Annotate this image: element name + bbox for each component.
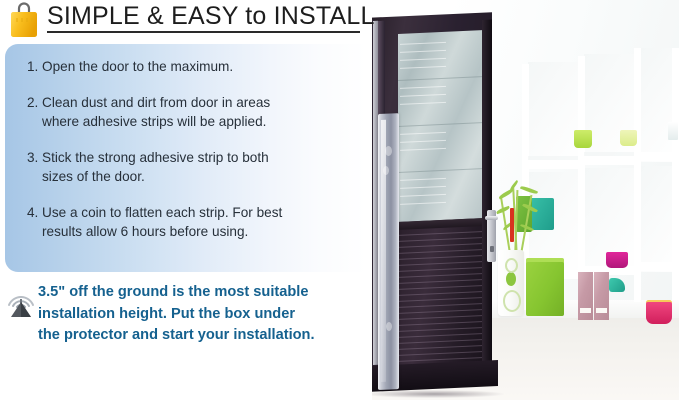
red-decor-stick <box>510 208 514 242</box>
instructions-column: SIMPLE & EASY to INSTALL 1.Open the door… <box>0 0 372 400</box>
magenta-pot <box>606 252 628 268</box>
title-underline <box>47 31 360 33</box>
door-assembly <box>354 18 500 380</box>
step-line-1: Stick the strong adhesive strip to both <box>42 150 269 165</box>
product-photo <box>330 0 679 400</box>
callout-note: 3.5" off the ground is the most suitable… <box>0 283 372 353</box>
white-vase <box>498 250 524 316</box>
callout-line-2: installation height. Put the box under <box>38 304 368 326</box>
step-number: 1. <box>27 57 42 76</box>
step-item: 3.Stick the strong adhesive strip to bot… <box>27 148 269 186</box>
step-item: 2.Clean dust and dirt from door in areas… <box>27 93 270 131</box>
glass-tumbler <box>668 122 678 140</box>
step-line-2: results allow 6 hours before using. <box>42 222 282 241</box>
step-number: 3. <box>27 148 42 167</box>
magazine-file-label <box>580 308 591 313</box>
door-glass-panel <box>398 30 482 222</box>
green-cup-reflection <box>620 130 637 146</box>
callout-line-3: the protector and start your installatio… <box>38 325 368 347</box>
step-number: 4. <box>27 203 42 222</box>
door-handle <box>485 216 498 220</box>
door-keyhole <box>490 246 494 252</box>
product-instruction-graphic: SIMPLE & EASY to INSTALL 1.Open the door… <box>0 0 679 400</box>
pink-pot <box>646 302 672 324</box>
step-item: 1.Open the door to the maximum. <box>27 57 233 76</box>
step-line-1: Open the door to the maximum. <box>42 59 233 74</box>
magazine-file <box>594 272 609 320</box>
door-edge <box>482 20 492 376</box>
shopping-bag-icon <box>8 2 40 38</box>
callout-text: 3.5" off the ground is the most suitable… <box>38 282 368 347</box>
door-louver-panel <box>396 226 484 378</box>
step-item: 4.Use a coin to flatten each strip. For … <box>27 203 282 241</box>
signal-tower-icon <box>5 285 37 319</box>
magazine-file-label <box>596 308 607 313</box>
step-line-1: Clean dust and dirt from door in areas <box>42 95 270 110</box>
protector-highlight <box>381 120 386 382</box>
green-cup <box>574 130 592 148</box>
magazine-file <box>578 272 593 320</box>
step-number: 2. <box>27 93 42 112</box>
steps-panel: 1.Open the door to the maximum. 2.Clean … <box>5 44 366 272</box>
header: SIMPLE & EASY to INSTALL <box>0 0 372 42</box>
step-line-2: where adhesive strips will be applied. <box>42 112 270 131</box>
step-line-1: Use a coin to flatten each strip. For be… <box>42 205 282 220</box>
door-floor-shadow <box>364 390 504 398</box>
green-storage-box <box>526 262 564 316</box>
step-line-2: sizes of the door. <box>42 167 269 186</box>
callout-line-1: 3.5" off the ground is the most suitable <box>38 282 368 304</box>
page-title: SIMPLE & EASY to INSTALL <box>47 1 357 31</box>
